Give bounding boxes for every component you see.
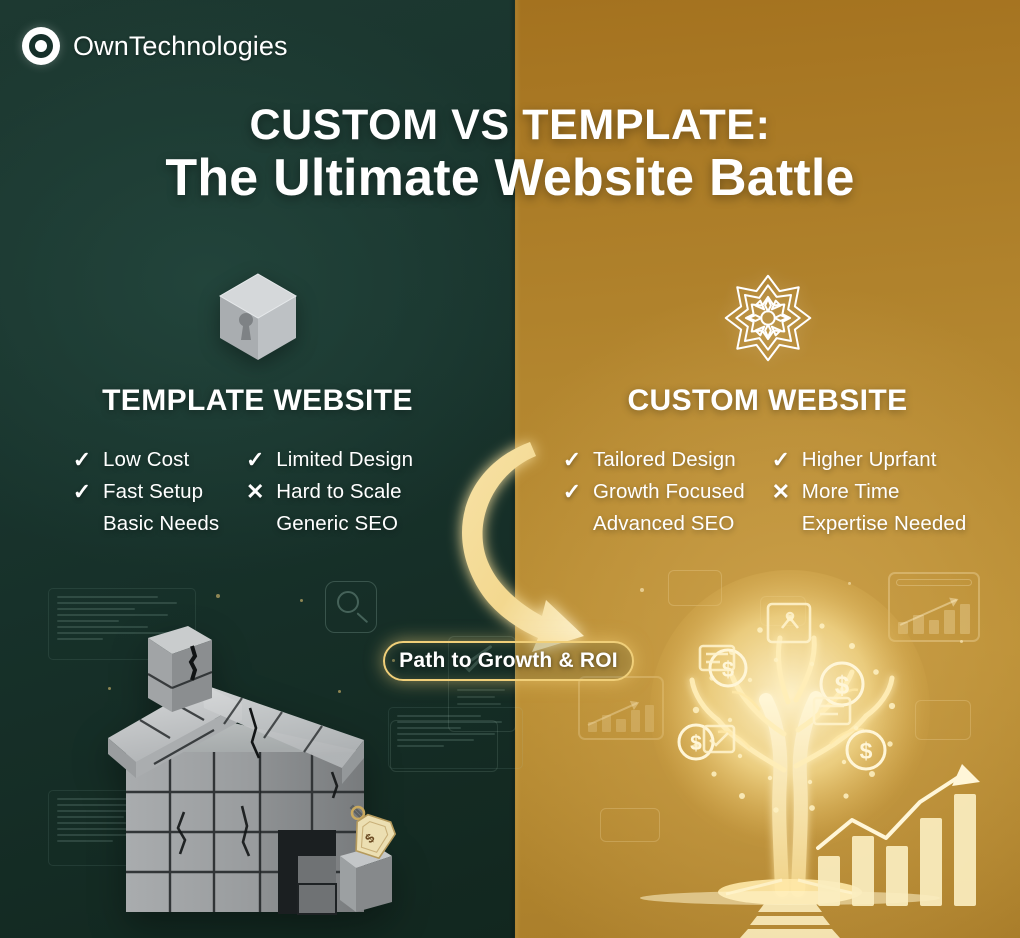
feature-item: ✓ Higher Uprfant [771,446,967,474]
cross-icon: ✕ [245,481,265,503]
cube-keyhole-icon [0,272,515,364]
feature-item: Generic SEO [245,510,413,538]
feature-label: Hard to Scale [276,480,402,504]
feature-label: Basic Needs [103,512,219,536]
title-line-2: The Ultimate Website Battle [0,147,1020,210]
feature-item: Expertise Needed [771,510,967,538]
template-feature-lists: ✓ Low Cost ✓ Fast Setup Basic Needs ✓ Li… [72,446,413,538]
feature-item: ✕ Hard to Scale [245,478,413,506]
custom-feature-col-2: ✓ Higher Uprfant ✕ More Time Expertise N… [771,446,967,538]
rising-bar-chart-with-arrow [810,760,990,910]
decor-dot [216,594,220,598]
price-tag: $ [345,802,397,864]
custom-website-heading: CUSTOM WEBSITE [515,384,1020,418]
title-line-1: CUSTOM VS TEMPLATE: [0,104,1020,147]
feature-item: Basic Needs [72,510,219,538]
cube-keyhole-svg [214,272,302,364]
badge-label: Path to Growth & ROI [399,649,618,673]
brand-logo[interactable]: OwnTechnologies [22,27,288,65]
cross-icon: ✕ [771,481,791,503]
template-website-section: TEMPLATE WEBSITE [0,272,515,418]
feature-label: More Time [802,480,900,504]
feature-item: ✓ Low Cost [72,446,219,474]
custom-website-section: CUSTOM WEBSITE [515,272,1020,418]
template-feature-col-1: ✓ Low Cost ✓ Fast Setup Basic Needs [72,446,219,538]
target-ring-icon [22,27,60,65]
check-icon: ✓ [245,449,265,471]
feature-label: Expertise Needed [802,512,967,536]
feature-label: Limited Design [276,448,413,472]
feature-label: Low Cost [103,448,189,472]
brand-name: OwnTechnologies [73,31,288,62]
mandala-svg [720,270,816,366]
cracked-concrete-block-house [92,612,422,932]
check-icon: ✓ [72,481,92,503]
feature-item: ✕ More Time [771,478,967,506]
check-icon: ✓ [72,449,92,471]
svg-text:$: $ [690,732,702,755]
feature-label: Higher Uprfant [802,448,937,472]
feature-label: Generic SEO [276,512,398,536]
feature-item: ✓ Fast Setup [72,478,219,506]
template-website-heading: TEMPLATE WEBSITE [0,384,515,418]
check-icon: ✓ [771,449,791,471]
decor-dot [300,599,303,602]
infographic-poster: OwnTechnologies CUSTOM VS TEMPLATE: The … [0,0,1020,938]
ornate-star-mandala-icon [515,272,1020,364]
svg-text:$: $ [835,670,850,700]
page-title: CUSTOM VS TEMPLATE: The Ultimate Website… [0,104,1020,210]
template-feature-col-2: ✓ Limited Design ✕ Hard to Scale Generic… [245,446,413,538]
feature-item: ✓ Limited Design [245,446,413,474]
feature-label: Fast Setup [103,480,203,504]
